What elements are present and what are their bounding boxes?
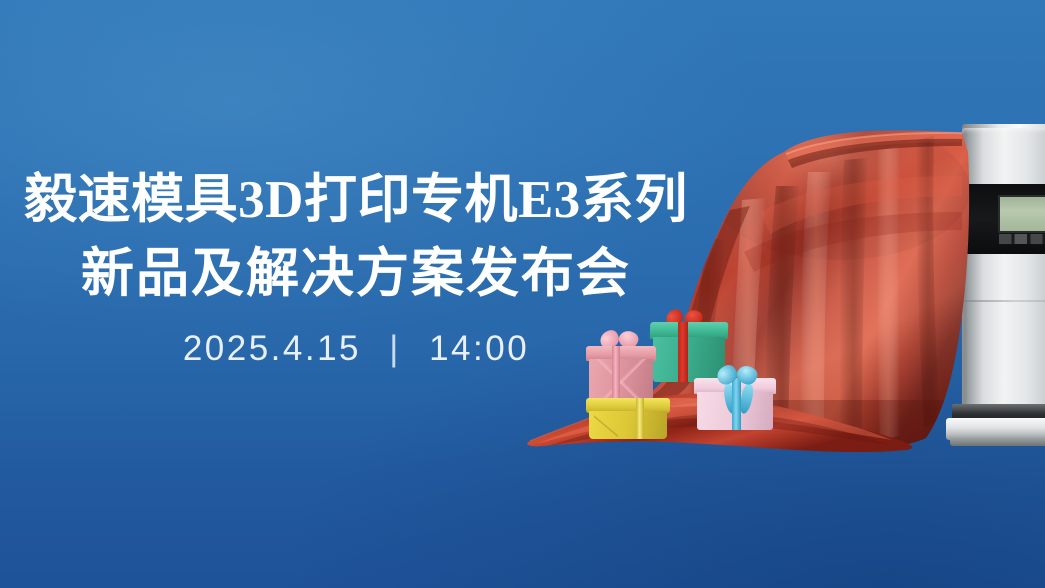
event-date: 2025.4.15 bbox=[183, 329, 361, 368]
event-poster: 毅速模具3D打印专机E3系列 新品及解决方案发布会 2025.4.15 | 14… bbox=[0, 0, 1045, 588]
cloth-crest-edge bbox=[786, 133, 962, 154]
headline-line-2: 新品及解决方案发布会 bbox=[0, 237, 712, 311]
yellow-box-ribbon-vertical bbox=[636, 398, 644, 439]
blue-ribbon-bow bbox=[717, 364, 757, 386]
datetime-separator: | bbox=[373, 329, 417, 369]
machine-body bbox=[962, 128, 1045, 428]
machine-lcd-screen bbox=[998, 195, 1045, 233]
event-time: 14:00 bbox=[429, 329, 529, 368]
machine-base-plinth bbox=[946, 418, 1045, 440]
machine-base-shadow bbox=[950, 438, 1045, 446]
machine-seam-line bbox=[962, 300, 1045, 302]
machine-keypad bbox=[999, 234, 1045, 244]
yellow-box-fold-line bbox=[594, 412, 618, 438]
headline-line-1: 毅速模具3D打印专机E3系列 bbox=[0, 163, 712, 237]
title-block: 毅速模具3D打印专机E3系列 新品及解决方案发布会 2025.4.15 | 14… bbox=[0, 163, 712, 369]
event-datetime: 2025.4.15 | 14:00 bbox=[0, 329, 712, 369]
